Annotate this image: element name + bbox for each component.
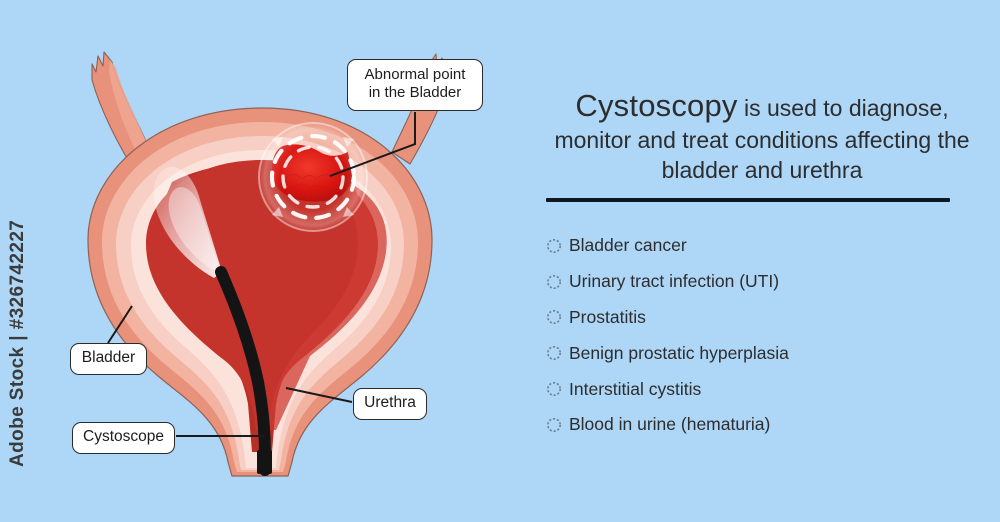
list-item: Blood in urine (hematuria) [546,407,986,443]
watermark-text: Adobe Stock | #326742227 [7,25,29,485]
illustration-canvas: Abnormal point in the Bladder Bladder Ur… [0,0,1000,522]
divider [546,198,950,202]
callout-abnormal-point: Abnormal point in the Bladder [347,59,483,111]
watermark: Adobe Stock | #326742227 [0,0,34,522]
dashed-circle-icon [546,238,562,254]
list-item: Prostatitis [546,300,986,336]
headline-lead-word: Cystoscopy [575,88,737,123]
conditions-list: Bladder cancer Urinary tract infection (… [546,228,986,443]
page-title: Cystoscopy is used to diagnose, monitor … [540,86,984,186]
condition-label: Urinary tract infection (UTI) [569,271,779,292]
dashed-circle-icon [546,417,562,433]
condition-label: Blood in urine (hematuria) [569,414,770,435]
condition-label: Bladder cancer [569,235,687,256]
info-panel: Cystoscopy is used to diagnose, monitor … [520,0,1000,522]
dashed-circle-icon [546,309,562,325]
lesion-highlight-ring [258,122,368,232]
list-item: Urinary tract infection (UTI) [546,264,986,300]
dashed-circle-icon [546,274,562,290]
condition-label: Interstitial cystitis [569,379,701,400]
list-item: Bladder cancer [546,228,986,264]
condition-label: Prostatitis [569,307,646,328]
list-item: Benign prostatic hyperplasia [546,335,986,371]
dashed-circle-icon [546,381,562,397]
condition-label: Benign prostatic hyperplasia [569,343,789,364]
dashed-circle-icon [546,345,562,361]
callout-cystoscope: Cystoscope [72,422,175,454]
list-item: Interstitial cystitis [546,371,986,407]
callout-bladder: Bladder [70,343,147,375]
callout-urethra: Urethra [353,388,427,420]
